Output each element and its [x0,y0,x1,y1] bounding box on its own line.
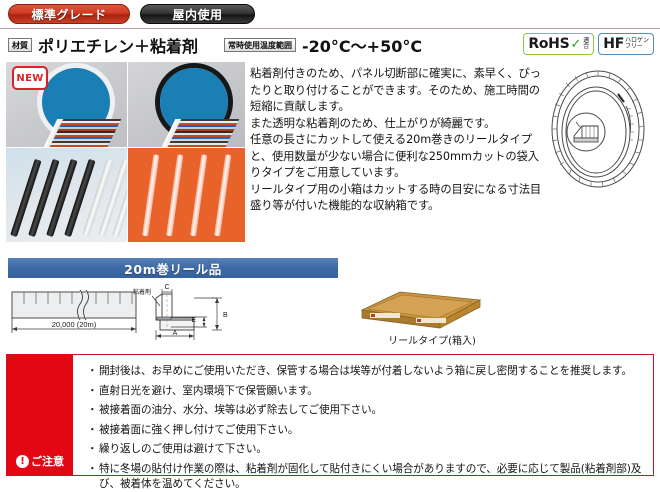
rohs-sub-line2: 合 [583,43,589,50]
description-paragraph-4: リールタイプ用の小箱はカットする時の目安になる寸法目盛り等が付いた機能的な収納箱… [250,182,542,215]
dimension-drawing: 20,000 (20m) 粘着剤 C A [4,284,256,348]
caution-item-text: 被接着面の油分、水分、埃等は必ず除去してご使用下さい。 [99,403,643,418]
rohs-badge-main-text: RoHS [528,36,569,52]
caution-bullet: ・ [87,442,99,457]
adhesive-label: 粘着剤 [133,288,151,296]
profile-rod-clear-2 [166,154,183,236]
header-divider [0,28,660,29]
description-paragraph-2: また透明な粘着剤のため、仕上がりが綺麗です。 [250,116,542,133]
dimension-drawing-svg: 20,000 (20m) 粘着剤 C A [4,284,256,348]
specification-row: 材質 ポリエチレン＋粘着剤 常時使用温度範囲 -20°C〜+50°C [8,34,422,56]
reel-box-photo [360,288,482,330]
caution-bullet: ・ [87,423,99,438]
caution-bullet: ・ [87,384,99,399]
caution-panel: ! ご注意 ・ 開封後は、お早めにご使用いただき、保管する場合は埃等が付着しない… [6,354,654,476]
caution-item-text: 開封後は、お早めにご使用いただき、保管する場合は埃等が付着しないよう箱に戻し密閉… [99,364,643,379]
product-photo-collage: NEW [6,62,244,241]
dimension-b-line [194,298,222,330]
dimension-a-label: A [173,330,178,337]
section-banner-title: 20m巻リール品 [124,259,222,278]
material-value: ポリエチレン＋粘着剤 [38,33,198,57]
new-badge: NEW [12,66,48,90]
profile-rod-clear-1 [142,154,159,236]
product-description: 粘着剤付きのため、パネル切断部に確実に、素早く、ぴったりと取り付けることができま… [250,66,542,215]
caution-label-block: ! ご注意 [7,355,73,475]
tab-standard-grade[interactable]: 標準グレード [8,4,130,24]
cross-section-view [156,294,194,330]
caution-item: ・ 繰り返しのご使用は避けて下さい。 [87,442,643,457]
dimension-c-label: C [164,284,169,291]
temperature-range-value: -20°C〜+50°C [302,33,422,57]
hf-badge-sub-text: ハロゲン フリー [625,38,649,51]
tab-indoor-use-label: 屋内使用 [172,6,222,23]
caution-label-inner: ! ご注意 [7,453,73,469]
dimension-b-label: B [223,312,228,319]
exclamation-icon: ! [16,455,29,468]
temperature-range-label-chip: 常時使用温度範囲 [224,38,296,52]
reel-box-photo-block: リールタイプ(箱入) [352,288,512,348]
strip-body [12,292,136,318]
rohs-compliant-badge: RoHS ✓ 適 合 [523,33,594,55]
grade-tab-row: 標準グレード 屋内使用 [8,4,255,24]
caution-item-list: ・ 開封後は、お早めにご使用いただき、保管する場合は埃等が付着しないよう箱に戻し… [73,355,653,475]
caution-bullet: ・ [87,403,99,418]
caution-bullet: ・ [87,462,99,492]
profile-rod-clear-3 [190,154,207,236]
product-photo-profile-rods [6,148,127,242]
product-photo-clear-rods [128,148,245,242]
reel-illustration [544,66,652,192]
cardboard-box-icon [360,288,482,330]
halogen-free-badge: HF ハロゲン フリー [598,33,654,55]
certification-badge-row: RoHS ✓ 適 合 HF ハロゲン フリー [523,33,654,55]
tab-indoor-use[interactable]: 屋内使用 [140,4,255,24]
caution-item: ・ 被接着面に強く押し付けてご使用下さい。 [87,423,643,438]
caution-item: ・ 特に冬場の貼付け作業の際は、粘着剤が固化して貼付きにくい場合がありますので、… [87,462,643,492]
caution-item-text: 繰り返しのご使用は避けて下さい。 [99,442,643,457]
caution-item-text: 被接着面に強く押し付けてご使用下さい。 [99,423,643,438]
caution-item: ・ 開封後は、お早めにご使用いただき、保管する場合は埃等が付着しないよう箱に戻し… [87,364,643,379]
product-photo-white-edging: NEW [6,62,127,147]
section-banner-reel-product: 20m巻リール品 [8,258,338,278]
material-label-chip: 材質 [8,38,32,52]
dimension-e-label: E [191,317,196,324]
length-dimension-text: 20,000 (20m) [52,320,97,329]
tab-standard-grade-label: 標準グレード [31,6,106,23]
reel-coil-icon [544,66,652,192]
product-photo-black-edging [128,62,245,147]
caution-label-text: ご注意 [31,453,64,469]
caution-item-text: 特に冬場の貼付け作業の際は、粘着剤が固化して貼付きにくい場合がありますので、必要… [99,462,643,492]
check-icon: ✓ [570,37,581,52]
new-badge-label: NEW [16,73,43,84]
description-paragraph-3: 任意の長さにカットして使える20m巻きのリールタイプと、使用数量が少ない場合に便… [250,132,542,182]
hf-badge-main-text: HF [603,36,624,52]
profile-rod-clear-4 [214,154,231,236]
adhesive-layer [157,317,171,320]
caution-item: ・ 被接着面の油分、水分、埃等は必ず除去してご使用下さい。 [87,403,643,418]
reel-box-caption: リールタイプ(箱入) [352,332,512,347]
caution-bullet: ・ [87,364,99,379]
caution-item-text: 直射日光を避け、室内環境下で保管願います。 [99,384,643,399]
caution-item: ・ 直射日光を避け、室内環境下で保管願います。 [87,384,643,399]
rohs-badge-sub-text: 適 合 [583,38,589,51]
description-paragraph-1: 粘着剤付きのため、パネル切断部に確実に、素早く、ぴったりと取り付けることができま… [250,66,542,116]
hf-sub-line2: フリー [625,43,643,50]
